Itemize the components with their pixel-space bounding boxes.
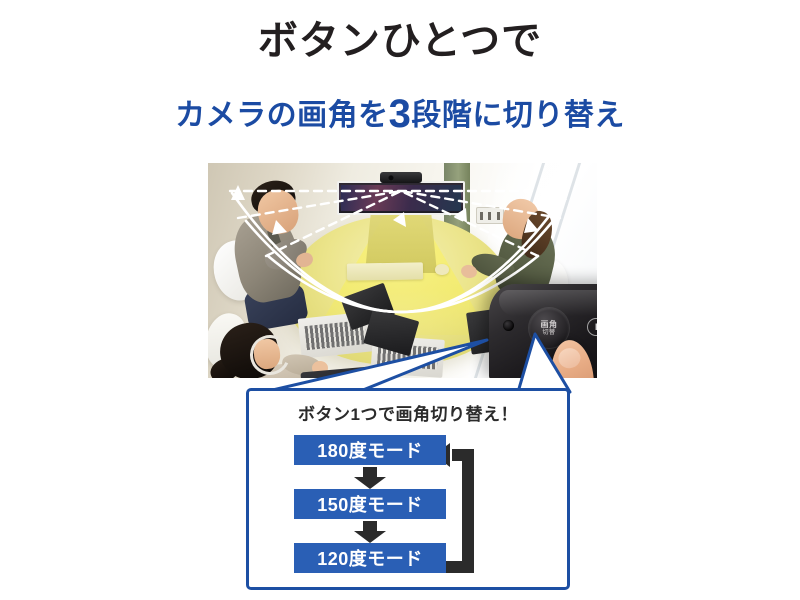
wall-outlet-plate xyxy=(476,207,504,224)
mode-box-150[interactable]: 150度モード xyxy=(294,489,446,519)
mode-box-180[interactable]: 180度モード xyxy=(294,435,446,465)
page-title-sub-suffix: 段階に切り替え xyxy=(411,99,625,132)
mode-box-120[interactable]: 120度モード xyxy=(294,543,446,573)
webcam-device: 画角 切替 I·O DA xyxy=(489,284,597,378)
callout-box: ボタン1つで画角切り替え！ 180度モード 150度モード 120度モード xyxy=(246,388,570,590)
monitor-screen xyxy=(341,185,461,211)
webcam-lens xyxy=(388,175,394,181)
webcam-on-monitor xyxy=(380,172,422,183)
meeting-room-photo: 画角 切替 I·O DA xyxy=(208,163,597,378)
brand-logo: I·O DA xyxy=(587,318,597,336)
fingernail xyxy=(557,347,581,369)
callout-title: ボタン1つで画角切り替え！ xyxy=(249,400,567,425)
angle-button-label-secondary: 切替 xyxy=(542,330,555,336)
page-title-sub-prefix: カメラの画角を xyxy=(175,99,389,132)
page-title-sub-number: 3 xyxy=(389,92,412,136)
page-title-sub: カメラの画角を3段階に切り替え xyxy=(0,96,800,135)
page-title-main: ボタンひとつで xyxy=(0,16,800,66)
mode-cycle-diagram: 180度モード 150度モード 120度モード xyxy=(249,431,567,589)
mouse xyxy=(435,264,449,275)
photo-stage: 画角 切替 I·O DA xyxy=(208,163,597,378)
microphone-hole-icon xyxy=(503,320,514,331)
monitor xyxy=(337,181,465,215)
keyboard xyxy=(347,262,423,280)
angle-button-label-primary: 画角 xyxy=(541,321,558,329)
